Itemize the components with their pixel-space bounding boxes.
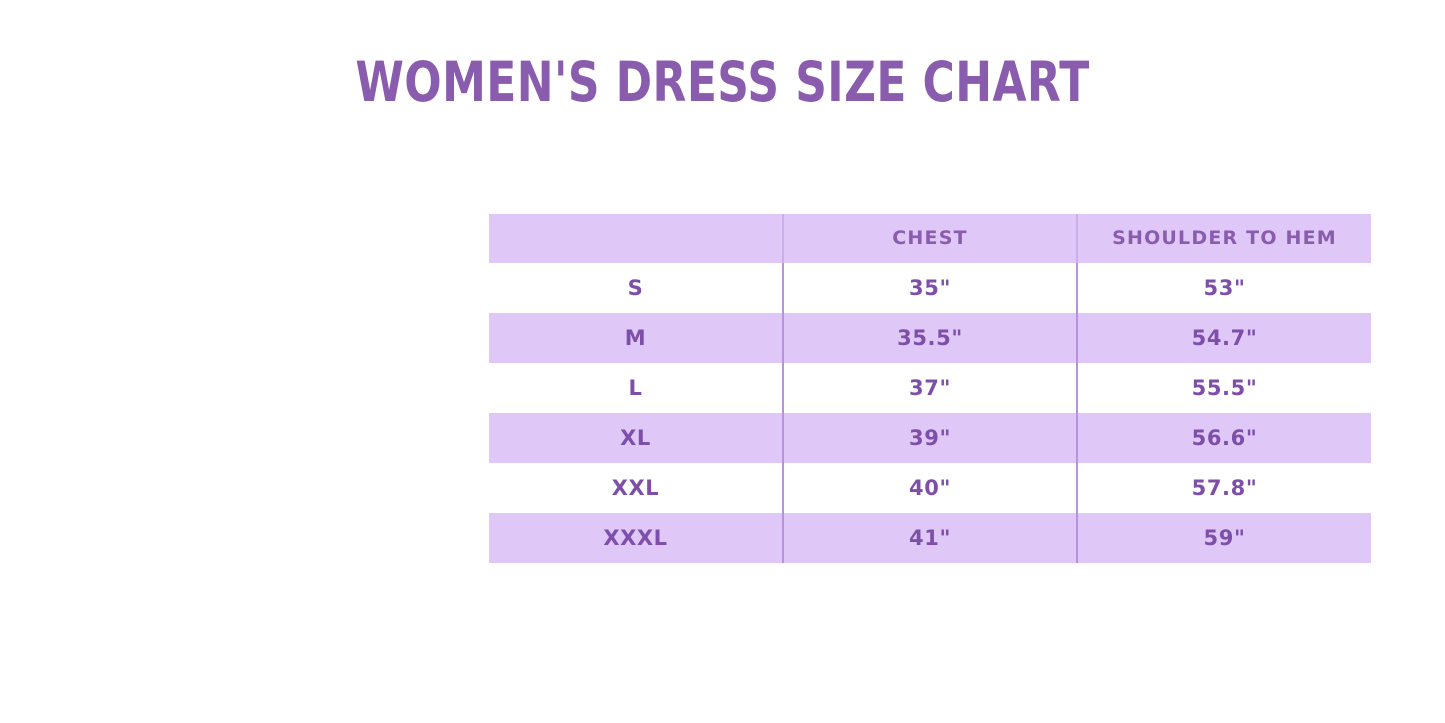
column-header-shoulder-to-hem: SHOULDER TO HEM (1077, 214, 1371, 263)
cell-shoulder-to-hem: 55.5" (1077, 363, 1371, 413)
size-chart-table-wrap: CHEST SHOULDER TO HEM S 35" 53" M 35.5" … (489, 214, 1371, 563)
cell-shoulder-to-hem: 59" (1077, 513, 1371, 563)
table-row: L 37" 55.5" (489, 363, 1371, 413)
cell-chest: 35.5" (783, 313, 1077, 363)
table-row: XXL 40" 57.8" (489, 463, 1371, 513)
cell-shoulder-to-hem: 53" (1077, 263, 1371, 313)
page-title: WOMEN'S DRESS SIZE CHART (145, 52, 1301, 113)
table-row: M 35.5" 54.7" (489, 313, 1371, 363)
column-header-chest: CHEST (783, 214, 1077, 263)
cell-chest: 40" (783, 463, 1077, 513)
cell-chest: 39" (783, 413, 1077, 463)
cell-chest: 41" (783, 513, 1077, 563)
cell-size: XL (489, 413, 783, 463)
header-row: CHEST SHOULDER TO HEM (489, 214, 1371, 263)
cell-size: S (489, 263, 783, 313)
table-row: S 35" 53" (489, 263, 1371, 313)
cell-size: XXXL (489, 513, 783, 563)
cell-shoulder-to-hem: 57.8" (1077, 463, 1371, 513)
cell-size: M (489, 313, 783, 363)
cell-chest: 37" (783, 363, 1077, 413)
column-header-size (489, 214, 783, 263)
cell-size: L (489, 363, 783, 413)
cell-shoulder-to-hem: 56.6" (1077, 413, 1371, 463)
size-chart-table: CHEST SHOULDER TO HEM S 35" 53" M 35.5" … (489, 214, 1371, 563)
cell-shoulder-to-hem: 54.7" (1077, 313, 1371, 363)
table-row: XXXL 41" 59" (489, 513, 1371, 563)
table-header: CHEST SHOULDER TO HEM (489, 214, 1371, 263)
cell-chest: 35" (783, 263, 1077, 313)
cell-size: XXL (489, 463, 783, 513)
table-body: S 35" 53" M 35.5" 54.7" L 37" 55.5" XL 3… (489, 263, 1371, 563)
table-row: XL 39" 56.6" (489, 413, 1371, 463)
size-chart-page: WOMEN'S DRESS SIZE CHART CHEST SHOULDER … (0, 0, 1445, 723)
